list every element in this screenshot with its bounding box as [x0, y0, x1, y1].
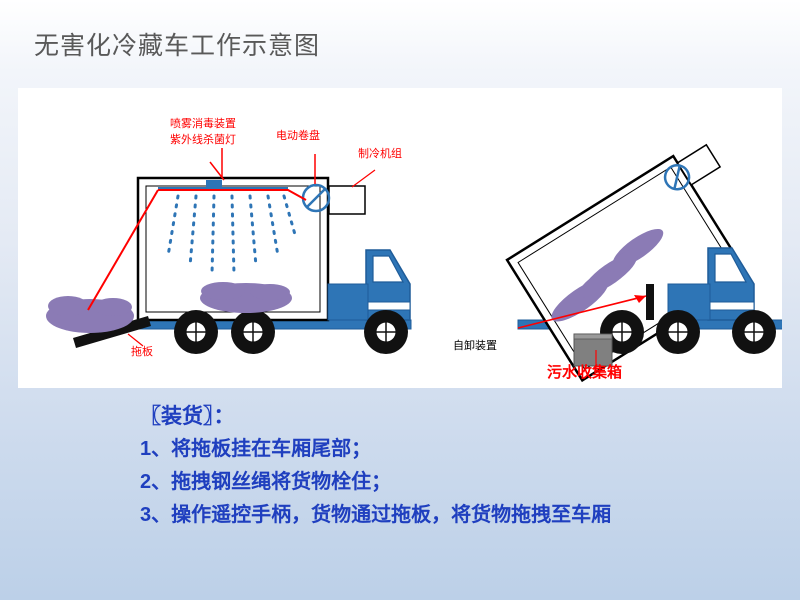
spray-disinfection-device-label: 喷雾消毒装置 [170, 118, 236, 131]
left-truck-group [46, 148, 411, 354]
page-title: 无害化冷藏车工作示意图 [34, 26, 320, 62]
drag-board-label: 拖板 [131, 346, 153, 359]
instruction-step-2: 2、拖拽钢丝绳将货物栓住； [140, 466, 780, 499]
instruction-step-1: 1、将拖板挂在车厢尾部； [140, 433, 780, 466]
uv-germicidal-lamp-label: 紫外线杀菌灯 [170, 134, 236, 147]
refrigeration-unit-label: 制冷机组 [358, 148, 402, 161]
sewage-collection-tank-label: 污水收集箱 [547, 366, 622, 379]
diagram-panel: 喷雾消毒装置 紫外线杀菌灯 电动卷盘 制冷机组 拖板 自卸装置 污水收集箱 [18, 88, 782, 388]
electric-reel-label: 电动卷盘 [276, 130, 320, 143]
cargo-on-ground [46, 296, 134, 333]
cargo-inside-box [200, 282, 292, 313]
right-truck-wheels [600, 310, 776, 354]
loading-instructions: 〖装货〗： 1、将拖板挂在车厢尾部； 2、拖拽钢丝绳将货物栓住； 3、操作遥控手… [140, 400, 780, 532]
right-truck-group [507, 145, 782, 381]
instructions-heading: 〖装货〗： [140, 400, 780, 433]
instruction-step-3: 3、操作遥控手柄，货物通过拖板，将货物拖拽至车厢 [140, 499, 780, 532]
truck-diagram-illustration [18, 88, 782, 388]
self-unloading-device-label: 自卸装置 [453, 340, 497, 353]
